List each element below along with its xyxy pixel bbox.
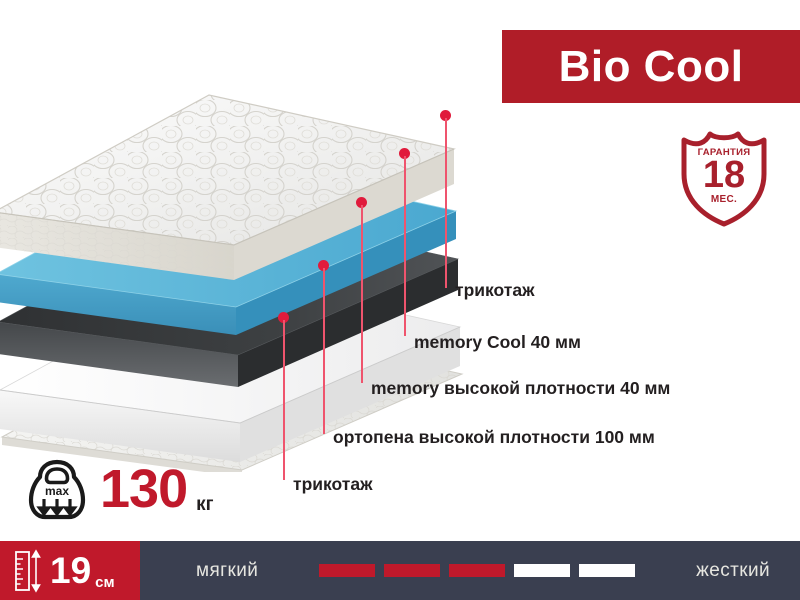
callout-label-layer-4: ортопена высокой плотности 100 мм (333, 429, 655, 447)
callout-line-layer-5 (283, 320, 285, 480)
bottom-bar: 19 см мягкий жесткий (0, 541, 800, 600)
firmness-segment-1 (319, 564, 375, 577)
ruler-icon (14, 549, 44, 593)
svg-text:max: max (45, 484, 69, 498)
height-unit: см (95, 574, 114, 591)
max-weight-unit: кг (196, 494, 213, 516)
callout-line-layer-2 (404, 156, 406, 336)
callout-label-layer-2: memory Cool 40 мм (414, 334, 581, 352)
warranty-unit: МЕС. (676, 194, 772, 205)
firmness-hard-label: жесткий (696, 560, 770, 582)
callout-label-layer-1: трикотаж (455, 282, 535, 300)
max-weight-block: max 130 кг (28, 458, 214, 520)
firmness-segment-5 (579, 564, 635, 577)
callout-label-layer-3: memory высокой плотности 40 мм (371, 380, 670, 398)
height-value: 19 (50, 552, 91, 589)
callout-line-layer-4 (323, 268, 325, 434)
height-block: 19 см (0, 541, 140, 600)
kettlebell-icon: max (28, 458, 86, 520)
firmness-block: мягкий жесткий (140, 541, 800, 600)
firmness-scale (319, 564, 635, 577)
firmness-segment-2 (384, 564, 440, 577)
callout-label-layer-5: трикотаж (293, 476, 373, 494)
firmness-segment-4 (514, 564, 570, 577)
warranty-value: 18 (676, 156, 772, 194)
callout-line-layer-1 (445, 118, 447, 288)
warranty-badge: ГАРАНТИЯ 18 МЕС. (676, 128, 772, 228)
firmness-segment-3 (449, 564, 505, 577)
page-title: Bio Cool (559, 45, 744, 89)
firmness-soft-label: мягкий (196, 560, 258, 582)
product-infographic: трикотаж memory Cool 40 мм memory высоко… (0, 0, 800, 600)
mattress-illustration (0, 22, 492, 472)
callout-line-layer-3 (361, 205, 363, 383)
max-weight-value: 130 (100, 462, 187, 516)
product-title-banner: Bio Cool (502, 30, 800, 103)
